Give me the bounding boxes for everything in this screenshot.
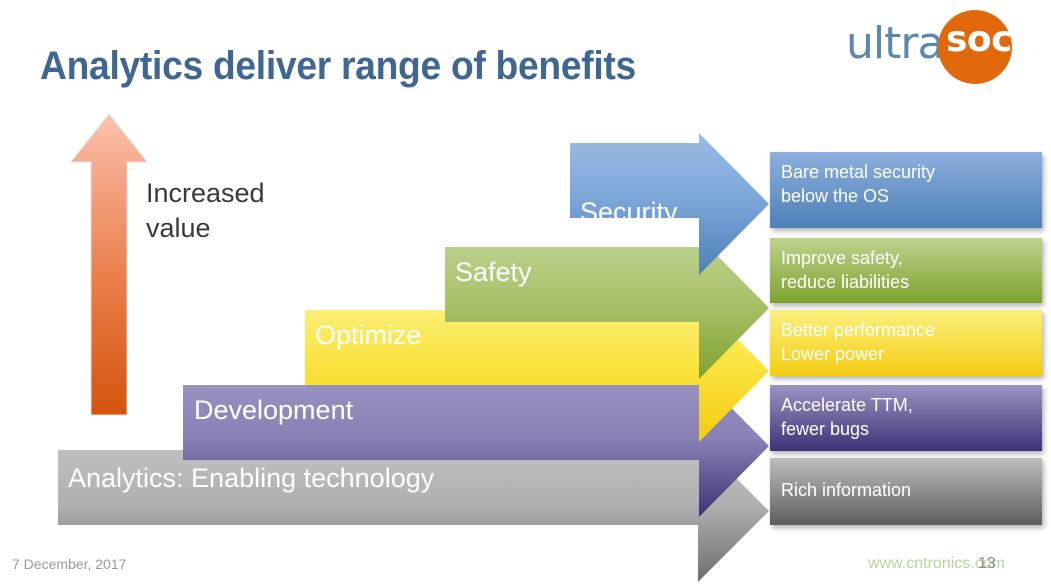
slide-canvas: Analytics deliver range of benefits ultr… (0, 0, 1051, 584)
increased-value-arrow-icon (68, 112, 150, 417)
stage-arrow-security[interactable] (570, 133, 770, 277)
benefit-box-development[interactable]: Accelerate TTM, fewer bugs (770, 385, 1042, 451)
increased-value-label: Increased value (146, 176, 265, 245)
ultrasoc-logo: ultra soc (840, 10, 1035, 84)
benefit-box-optimize[interactable]: Better performance Lower power (770, 310, 1042, 376)
benefit-box-analytics[interactable]: Rich information (770, 458, 1042, 525)
logo-badge-circle: soc (938, 10, 1012, 84)
footer-slide-number: 13 (978, 555, 996, 573)
benefit-box-safety[interactable]: Improve safety, reduce liabilities (770, 238, 1042, 303)
page-title: Analytics deliver range of benefits (40, 44, 636, 89)
benefit-box-security[interactable]: Bare metal security below the OS (770, 152, 1042, 228)
logo-badge-text: soc (946, 19, 1004, 60)
logo-wordmark: ultra (846, 18, 943, 69)
